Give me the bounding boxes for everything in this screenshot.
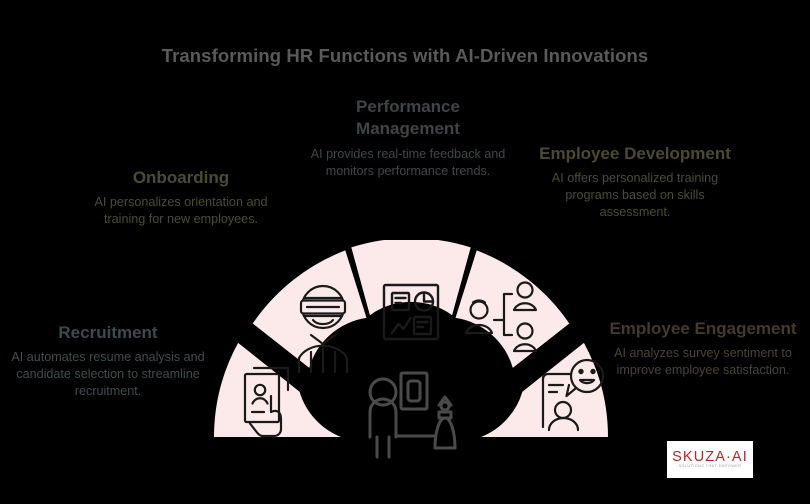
- heading-employee-engagement: Employee Engagement: [600, 318, 806, 340]
- body-recruitment: AI automates resume analysis and candida…: [2, 349, 214, 399]
- segment-performance-management[interactable]: [351, 240, 470, 315]
- label-block-performance-management: Performance Management AI provides real-…: [310, 96, 506, 179]
- infographic-canvas: Transforming HR Functions with AI-Driven…: [0, 0, 810, 504]
- heading-performance-management: Performance Management: [310, 96, 506, 141]
- logo-wordmark: SKUZA·AI: [672, 450, 748, 465]
- body-performance-management: AI provides real-time feedback and monit…: [310, 146, 506, 179]
- human-and-robot-handshake-icon: [370, 373, 455, 457]
- heading-onboarding: Onboarding: [92, 167, 270, 189]
- skuza-ai-logo: SKUZA·AI SOLUTIONS THAT EMPOWER: [667, 441, 753, 478]
- logo-tagline: SOLUTIONS THAT EMPOWER: [679, 465, 742, 469]
- label-block-onboarding: Onboarding AI personalizes orientation a…: [92, 167, 270, 228]
- body-employee-development: AI offers personalized training programs…: [536, 170, 734, 220]
- heading-recruitment: Recruitment: [2, 322, 214, 344]
- page-title: Transforming HR Functions with AI-Driven…: [0, 45, 810, 67]
- heading-employee-development: Employee Development: [536, 143, 734, 165]
- label-block-recruitment: Recruitment AI automates resume analysis…: [2, 322, 214, 400]
- label-block-employee-development: Employee Development AI offers personali…: [536, 143, 734, 221]
- segment-employee-development[interactable]: [456, 250, 570, 368]
- segment-employee-engagement[interactable]: [481, 343, 608, 437]
- body-onboarding: AI personalizes orientation and training…: [92, 194, 270, 227]
- radial-semicircle-diagram: [203, 240, 619, 460]
- label-block-employee-engagement: Employee Engagement AI analyzes survey s…: [600, 318, 806, 379]
- body-employee-engagement: AI analyzes survey sentiment to improve …: [600, 345, 806, 378]
